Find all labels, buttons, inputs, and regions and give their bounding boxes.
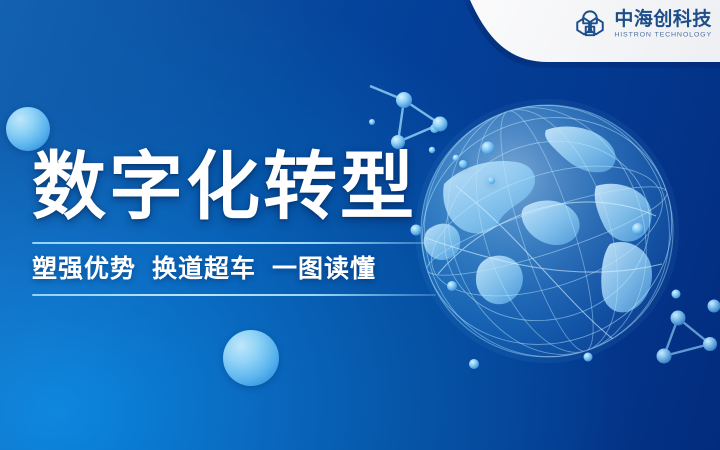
- subtitle-part-3: 一图读懂: [272, 255, 376, 283]
- network-node-cluster-bottom: [638, 292, 720, 378]
- decorative-sphere-bottom-center: [223, 330, 279, 386]
- subtitle-part-2: 换道超车: [152, 255, 256, 283]
- decorative-dot-small-3: [488, 177, 495, 184]
- headline-block: 数字化转型 塑强优势换道超车一图读懂: [32, 150, 452, 296]
- brand-name-cn: 中海创科技: [614, 10, 712, 30]
- histron-cube-logo-icon: [573, 8, 607, 42]
- title-divider-bottom: [32, 294, 436, 296]
- brand-logo-text: 中海创科技 HISTRON TECHNOLOGY: [614, 10, 712, 40]
- page-subtitle: 塑强优势换道超车一图读懂: [32, 255, 452, 284]
- brand-name-en: HISTRON TECHNOLOGY: [614, 32, 712, 39]
- brand-logo[interactable]: 中海创科技 HISTRON TECHNOLOGY: [573, 8, 712, 42]
- title-divider-top: [32, 242, 436, 244]
- subtitle-part-1: 塑强优势: [32, 255, 136, 283]
- page-title: 数字化转型: [32, 150, 452, 224]
- poster-canvas: 中海创科技 HISTRON TECHNOLOGY 数字化转型 塑强优势换道超车一…: [0, 0, 720, 450]
